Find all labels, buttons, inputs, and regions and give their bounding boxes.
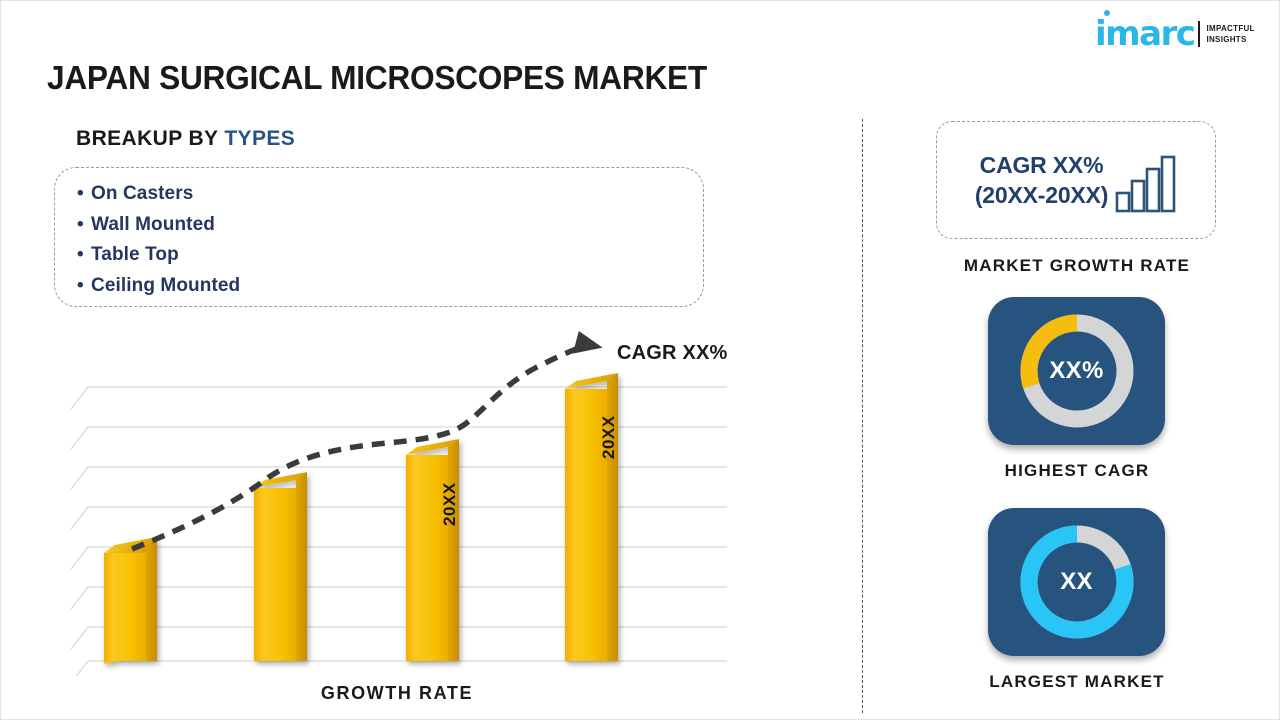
bar-label-3: 20XX: [440, 482, 460, 526]
chart-gridlines: [71, 387, 727, 676]
breakup-heading: BREAKUP BY TYPES: [76, 127, 295, 151]
largest-market-label: LARGEST MARKET: [907, 672, 1247, 692]
bullet-icon: •: [77, 240, 91, 271]
breakup-heading-prefix: BREAKUP BY: [76, 127, 224, 150]
chart-svg: [47, 331, 767, 676]
list-item: •Ceiling Mounted: [77, 271, 703, 302]
imarc-logo: imarc IMPACTFUL INSIGHTS: [1095, 15, 1265, 53]
vertical-divider: [862, 119, 863, 713]
logo-tagline-line1: IMPACTFUL: [1206, 24, 1254, 33]
list-item-label: Wall Mounted: [91, 214, 215, 235]
cagr-summary-text: CAGR XX% (20XX-20XX): [975, 150, 1108, 210]
list-item-label: Table Top: [91, 244, 179, 265]
page-title: JAPAN SURGICAL MICROSCOPES MARKET: [47, 59, 707, 97]
market-growth-rate-label: MARKET GROWTH RATE: [907, 256, 1247, 276]
logo-divider: [1198, 21, 1200, 47]
bullet-icon: •: [77, 271, 91, 302]
highest-cagr-label: HIGHEST CAGR: [907, 461, 1247, 481]
list-item: •Wall Mounted: [77, 210, 703, 241]
cagr-summary-line2: (20XX-20XX): [975, 180, 1108, 210]
bullet-icon: •: [77, 210, 91, 241]
logo-wordmark: imarc: [1095, 17, 1194, 51]
bar-1: [104, 537, 157, 664]
list-item-label: Ceiling Mounted: [91, 275, 240, 296]
cagr-summary-line1: CAGR XX%: [975, 150, 1108, 180]
cagr-arrow-label: CAGR XX%: [617, 342, 728, 365]
highest-cagr-value: XX%: [988, 357, 1165, 385]
list-item: •Table Top: [77, 240, 703, 271]
growth-rate-bar-chart: CAGR XX% 20XX 20XX GROWTH RATE: [47, 331, 767, 720]
list-item: •On Casters: [77, 179, 703, 210]
logo-tagline: IMPACTFUL INSIGHTS: [1206, 23, 1254, 45]
breakup-types-box: •On Casters •Wall Mounted •Table Top •Ce…: [54, 167, 704, 307]
bar-3: [406, 439, 459, 661]
bar-2: [254, 472, 307, 661]
logo-dot-icon: [1104, 10, 1110, 16]
bar-label-4: 20XX: [599, 415, 619, 459]
cagr-summary-box: CAGR XX% (20XX-20XX): [936, 121, 1216, 239]
largest-market-value: XX: [988, 568, 1165, 596]
logo-tagline-line2: INSIGHTS: [1206, 35, 1246, 44]
list-item-label: On Casters: [91, 183, 193, 204]
infographic-page: imarc IMPACTFUL INSIGHTS JAPAN SURGICAL …: [0, 0, 1280, 720]
chart-x-axis-label: GROWTH RATE: [47, 683, 747, 704]
largest-market-card: XX: [988, 508, 1165, 656]
trend-arrow: [132, 331, 603, 549]
highest-cagr-card: XX%: [988, 297, 1165, 445]
bullet-icon: •: [77, 179, 91, 210]
bar-chart-icon: [1115, 155, 1177, 213]
breakup-heading-accent: TYPES: [224, 127, 295, 150]
